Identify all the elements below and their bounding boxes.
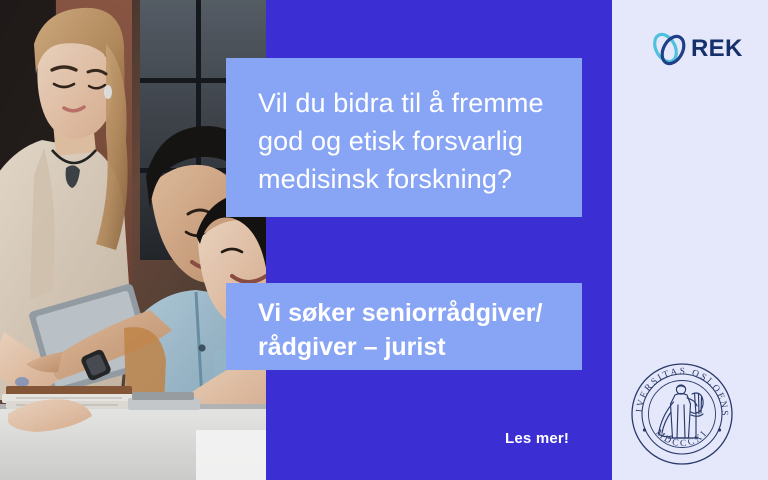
rek-wordmark: REK [691, 37, 743, 61]
position-line-1: Vi søker seniorrådgiver/ [258, 296, 582, 330]
position-textbox: Vi søker seniorrådgiver/ rådgiver – juri… [226, 283, 582, 370]
question-textbox: Vil du bidra til å fremme god og etisk f… [226, 58, 582, 217]
svg-text:UNIVERSITAS OSLOENSIS: UNIVERSITAS OSLOENSIS [628, 360, 729, 418]
question-line-3: medisinsk forskning? [258, 160, 582, 198]
read-more-link[interactable]: Les mer! [505, 430, 569, 447]
rek-logo[interactable]: REK [649, 27, 741, 71]
question-line-1: Vil du bidra til å fremme [258, 84, 582, 122]
uio-apollo-seal-icon: UNIVERSITAS OSLOENSIS MDCCCXI [628, 360, 736, 468]
question-line-2: god og etisk forsvarlig [258, 122, 582, 160]
position-line-2: rådgiver – jurist [258, 330, 582, 364]
rek-interlocking-ellipses-icon [649, 28, 689, 70]
recruitment-banner: Vil du bidra til å fremme god og etisk f… [0, 0, 768, 480]
